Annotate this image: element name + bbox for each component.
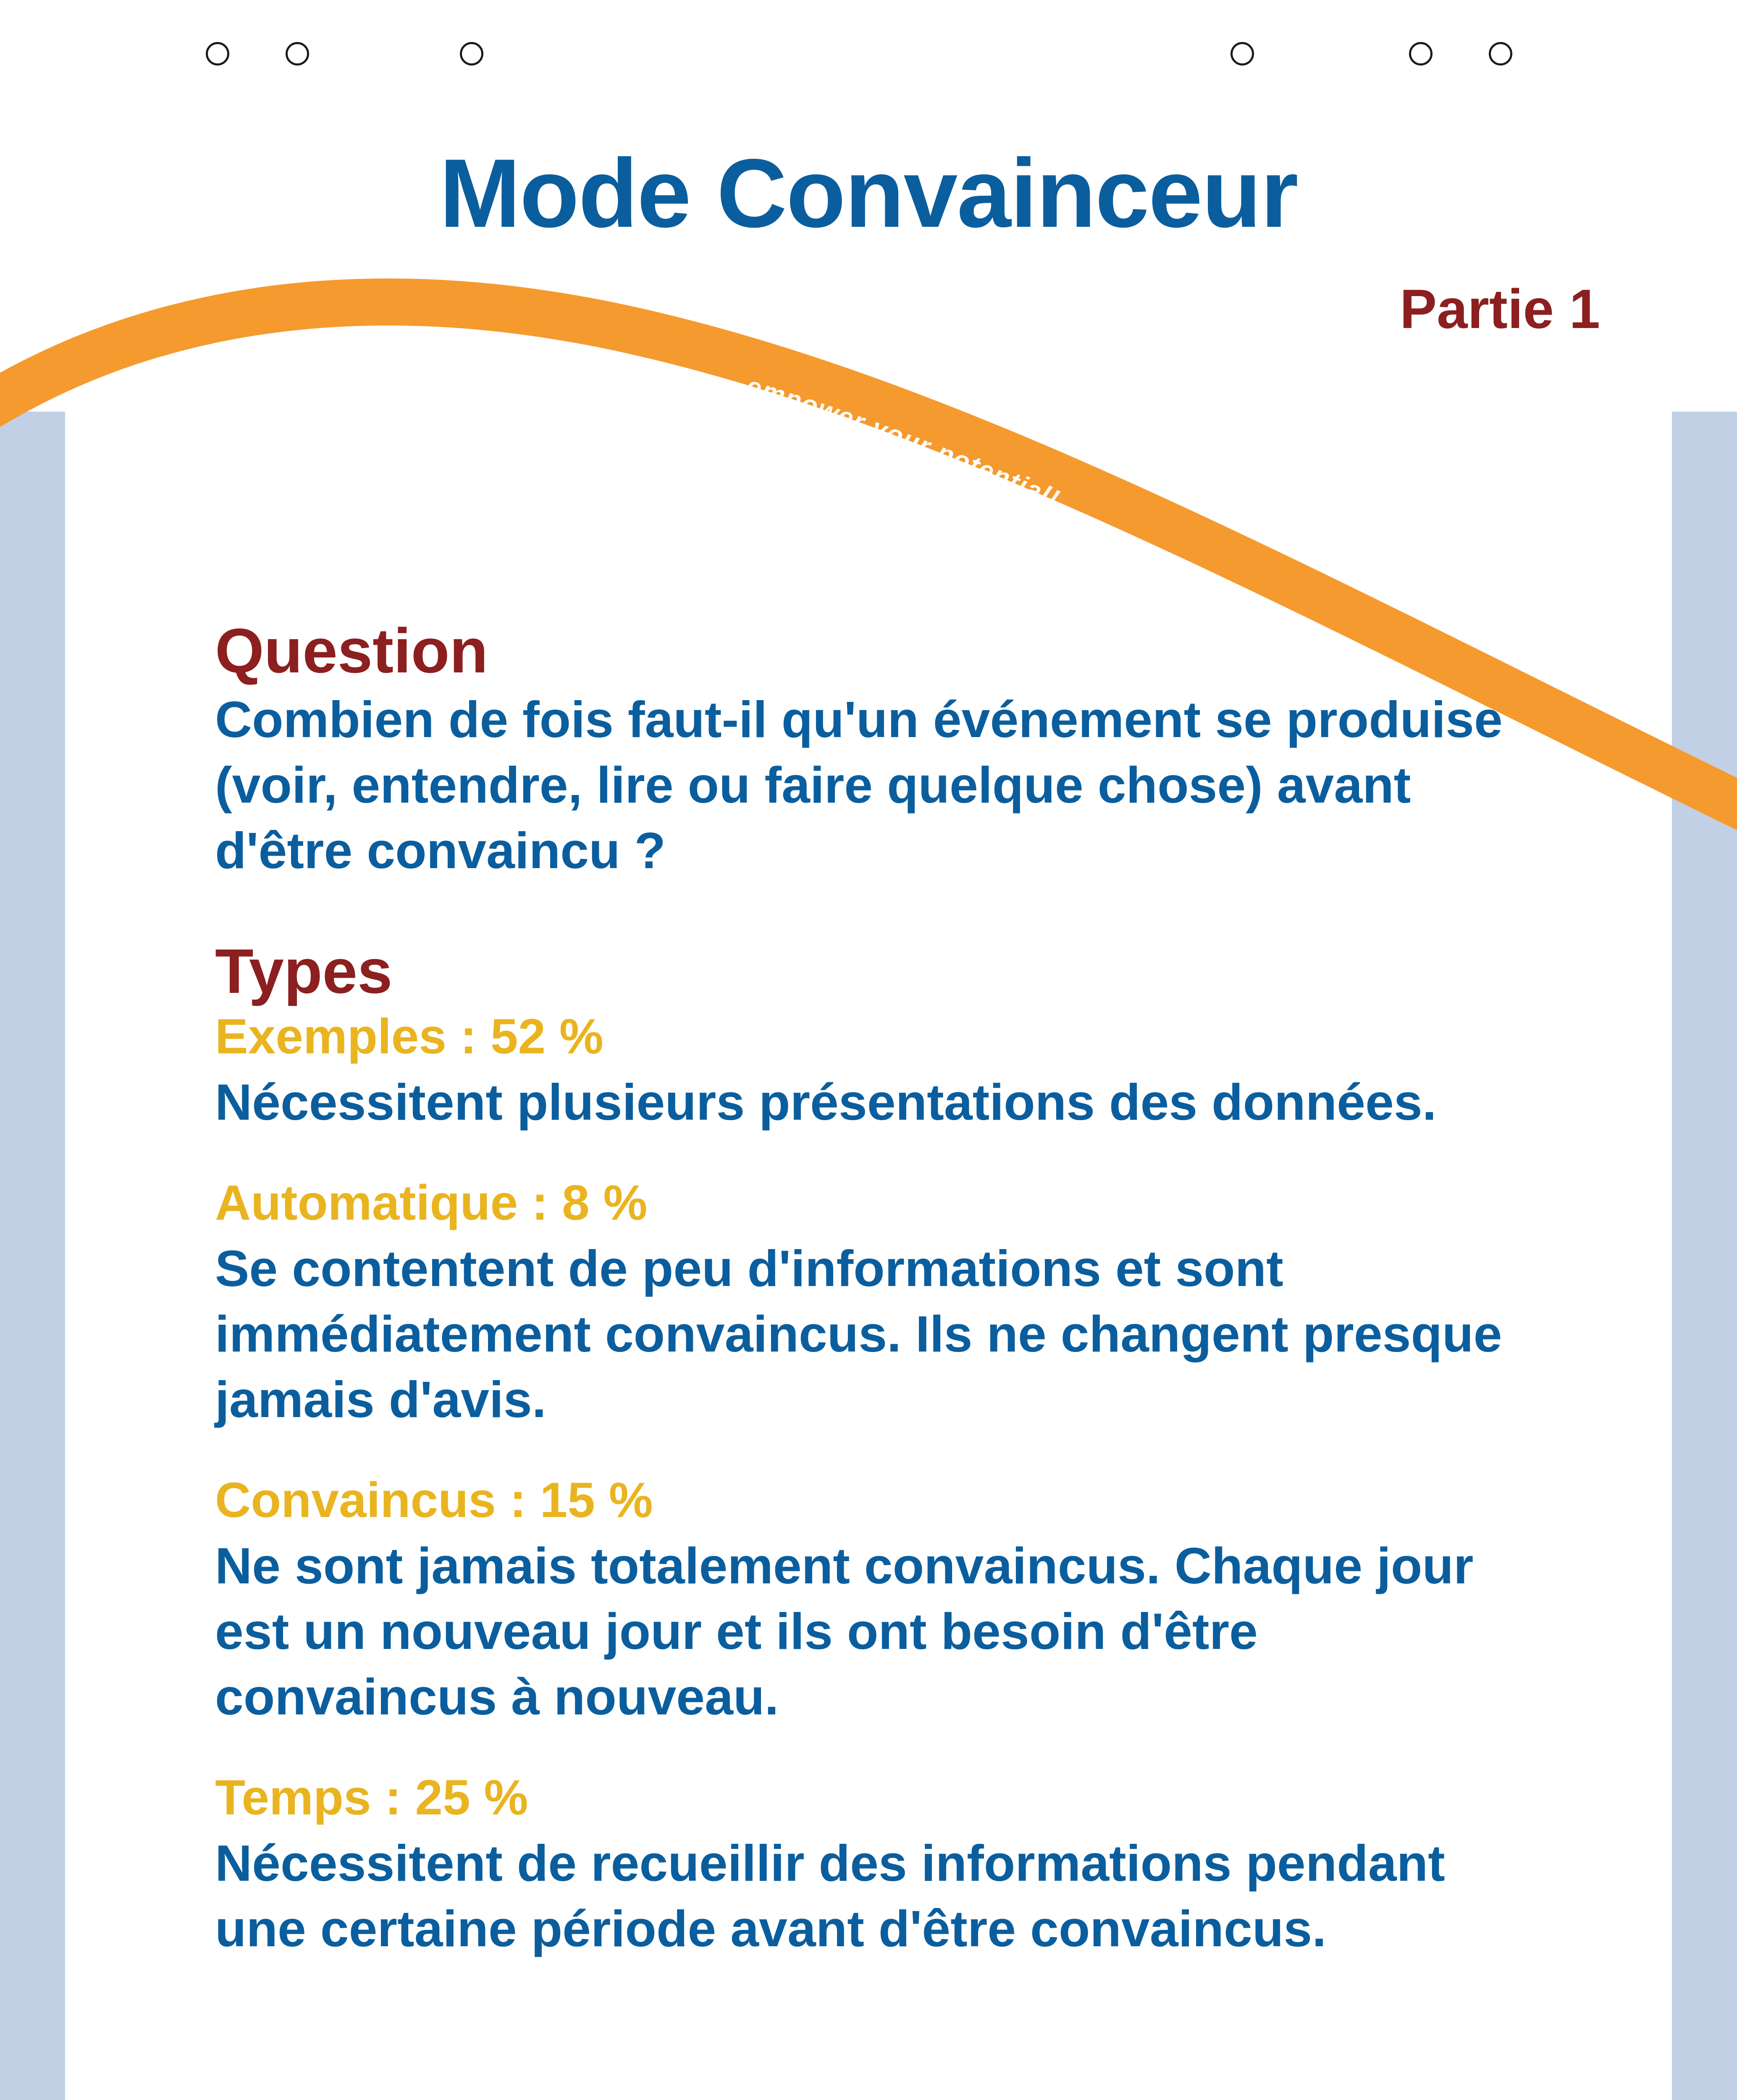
hole-2-icon	[286, 42, 309, 66]
hole-4-icon	[1231, 42, 1254, 66]
question-heading: Question	[215, 617, 1538, 684]
type-description-exemples: Nécessitent plusieurs présentations des …	[215, 1069, 1538, 1135]
spacer	[215, 883, 1538, 938]
page-title: Mode Convainceur	[0, 145, 1737, 242]
type-item-exemples: Exemples : 52 % Nécessitent plusieurs pr…	[215, 1007, 1538, 1135]
flipchart-page: ... empower your potential! Mode Convain…	[0, 0, 1737, 2100]
content-body: Question Combien de fois faut-il qu'un é…	[215, 617, 1538, 1961]
page-border-right	[1672, 412, 1737, 2100]
type-item-temps: Temps : 25 % Nécessitent de recueillir d…	[215, 1768, 1538, 1961]
spacer	[215, 1730, 1538, 1768]
spacer	[215, 1135, 1538, 1173]
type-description-automatique: Se contentent de peu d'informations et s…	[215, 1236, 1538, 1432]
type-item-automatique: Automatique : 8 % Se contentent de peu d…	[215, 1173, 1538, 1432]
hole-6-icon	[1489, 42, 1512, 66]
type-description-temps: Nécessitent de recueillir des informatio…	[215, 1830, 1538, 1961]
hole-3-icon	[460, 42, 483, 66]
type-item-convaincus: Convaincus : 15 % Ne sont jamais totalem…	[215, 1471, 1538, 1730]
page-border-left	[0, 412, 65, 2100]
type-label-convaincus: Convaincus : 15 %	[215, 1471, 1538, 1530]
part-label: Partie 1	[0, 281, 1600, 337]
type-label-temps: Temps : 25 %	[215, 1768, 1538, 1828]
type-description-convaincus: Ne sont jamais totalement convaincus. Ch…	[215, 1533, 1538, 1730]
type-label-automatique: Automatique : 8 %	[215, 1173, 1538, 1233]
question-body: Combien de fois faut-il qu'un événement …	[215, 687, 1538, 883]
spacer	[215, 1432, 1538, 1471]
types-heading: Types	[215, 938, 1538, 1005]
hole-1-icon	[206, 42, 229, 66]
hole-5-icon	[1409, 42, 1433, 66]
type-label-exemples: Exemples : 52 %	[215, 1007, 1538, 1067]
